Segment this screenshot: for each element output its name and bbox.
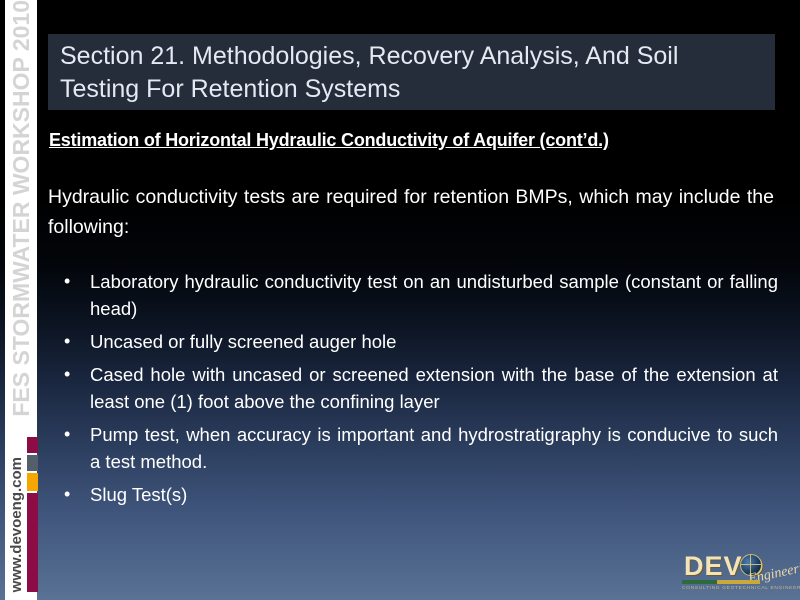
sidebar-website: www.devoeng.com (8, 457, 25, 592)
slide-lead-paragraph: Hydraulic conductivity tests are require… (48, 182, 774, 242)
list-item-text: Slug Test(s) (90, 484, 187, 505)
bullet-marker-icon: • (64, 328, 70, 355)
devo-engineering-logo: DEVO Engineering CONSULTING GEOTECHNICAL… (676, 547, 796, 597)
slide-subheading: Estimation of Horizontal Hydraulic Condu… (49, 130, 779, 151)
list-item-text: Pump test, when accuracy is important an… (90, 424, 778, 472)
list-item-text: Cased hole with uncased or screened exte… (90, 364, 778, 412)
list-item-text: Uncased or fully screened auger hole (90, 331, 396, 352)
list-item-text: Laboratory hydraulic conductivity test o… (90, 271, 778, 319)
bullet-marker-icon: • (64, 268, 70, 295)
list-item: • Cased hole with uncased or screened ex… (60, 361, 778, 415)
bullet-marker-icon: • (64, 421, 70, 448)
bullet-marker-icon: • (64, 361, 70, 388)
list-item: • Pump test, when accuracy is important … (60, 421, 778, 475)
slide-bullet-list: • Laboratory hydraulic conductivity test… (60, 268, 778, 514)
bullet-marker-icon: • (64, 481, 70, 508)
sidebar-event-title: FES STORMWATER WORKSHOP 2010 (5, 0, 37, 419)
list-item: • Uncased or fully screened auger hole (60, 328, 778, 355)
logo-tagline: CONSULTING GEOTECHNICAL ENGINEERS (682, 585, 798, 590)
list-item: • Laboratory hydraulic conductivity test… (60, 268, 778, 322)
slide-title: Section 21. Methodologies, Recovery Anal… (60, 40, 760, 106)
presentation-slide: FES STORMWATER WORKSHOP 2010 www.devoeng… (0, 0, 800, 600)
sidebar-website-container: www.devoeng.com (3, 432, 29, 592)
logo-rule (682, 580, 760, 584)
list-item: • Slug Test(s) (60, 481, 778, 508)
sidebar-event-title-container: FES STORMWATER WORKSHOP 2010 (5, 0, 37, 420)
